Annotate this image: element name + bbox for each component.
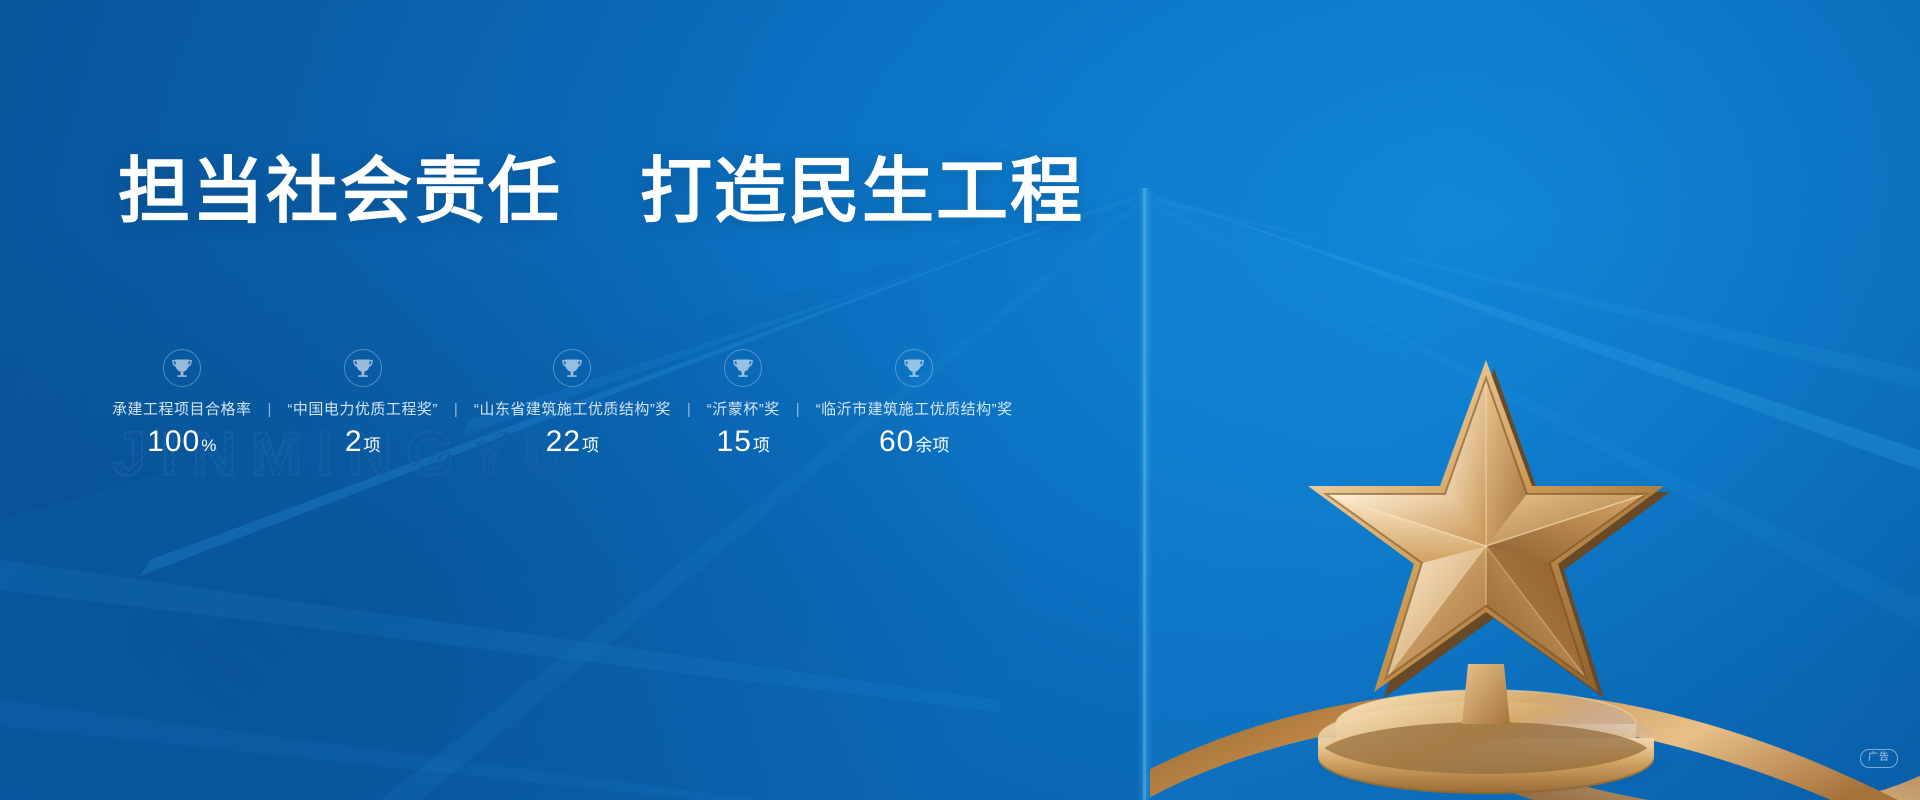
stat-value: 22项: [546, 425, 599, 463]
stat-unit: 项: [364, 436, 381, 455]
page-title: 担当社会责任 打造民生工程: [118, 154, 1084, 230]
stat-item: “山东省建筑施工优质结构”奖 22项: [474, 348, 671, 463]
ad-badge[interactable]: 广告: [1860, 749, 1898, 768]
stat-separator: |: [252, 400, 288, 420]
stat-item: “中国电力优质工程奖” 2项: [287, 348, 438, 463]
stat-unit: %: [201, 436, 216, 455]
stat-number: 22: [546, 425, 581, 458]
stat-value: 100%: [147, 425, 216, 463]
stat-item: “沂蒙杯”奖 15项: [707, 348, 780, 463]
stat-number: 15: [717, 425, 752, 458]
stat-label: “山东省建筑施工优质结构”奖: [474, 400, 671, 420]
stat-value: 60余项: [879, 425, 949, 463]
stat-value: 2项: [345, 425, 381, 463]
stats-row: 承建工程项目合格率 100% | “中国电力优质工程奖” 2项 |: [112, 348, 1013, 463]
stat-unit: 项: [582, 436, 599, 455]
trophy-icon: [552, 348, 592, 388]
stat-number: 60: [879, 425, 914, 458]
stat-separator: |: [780, 400, 816, 420]
gold-star-trophy-illustration: [1150, 246, 1920, 800]
stat-separator: |: [671, 400, 707, 420]
trophy-icon: [723, 348, 763, 388]
stat-label: 承建工程项目合格率: [112, 400, 252, 420]
headline-part-2: 打造民生工程: [640, 152, 1084, 232]
trophy-icon: [343, 348, 383, 388]
trophy-icon: [894, 348, 934, 388]
stat-label: “沂蒙杯”奖: [707, 400, 780, 420]
stat-value: 15项: [717, 425, 770, 463]
stat-unit: 项: [753, 436, 770, 455]
stat-label: “临沂市建筑施工优质结构”奖: [816, 400, 1013, 420]
stat-separator: |: [438, 400, 474, 420]
stat-item: “临沂市建筑施工优质结构”奖 60余项: [816, 348, 1013, 463]
stat-number: 2: [345, 425, 363, 458]
stat-label: “中国电力优质工程奖”: [287, 400, 438, 420]
headline-part-1: 担当社会责任: [118, 152, 562, 232]
stat-number: 100: [147, 425, 200, 458]
trophy-icon: [162, 348, 202, 388]
promo-banner: JINMINGYU 担当社会责任 打造民生工程 承建工程项目合格率 100% |: [0, 0, 1920, 800]
stat-unit: 余项: [915, 436, 949, 455]
stat-item: 承建工程项目合格率 100%: [112, 348, 252, 463]
